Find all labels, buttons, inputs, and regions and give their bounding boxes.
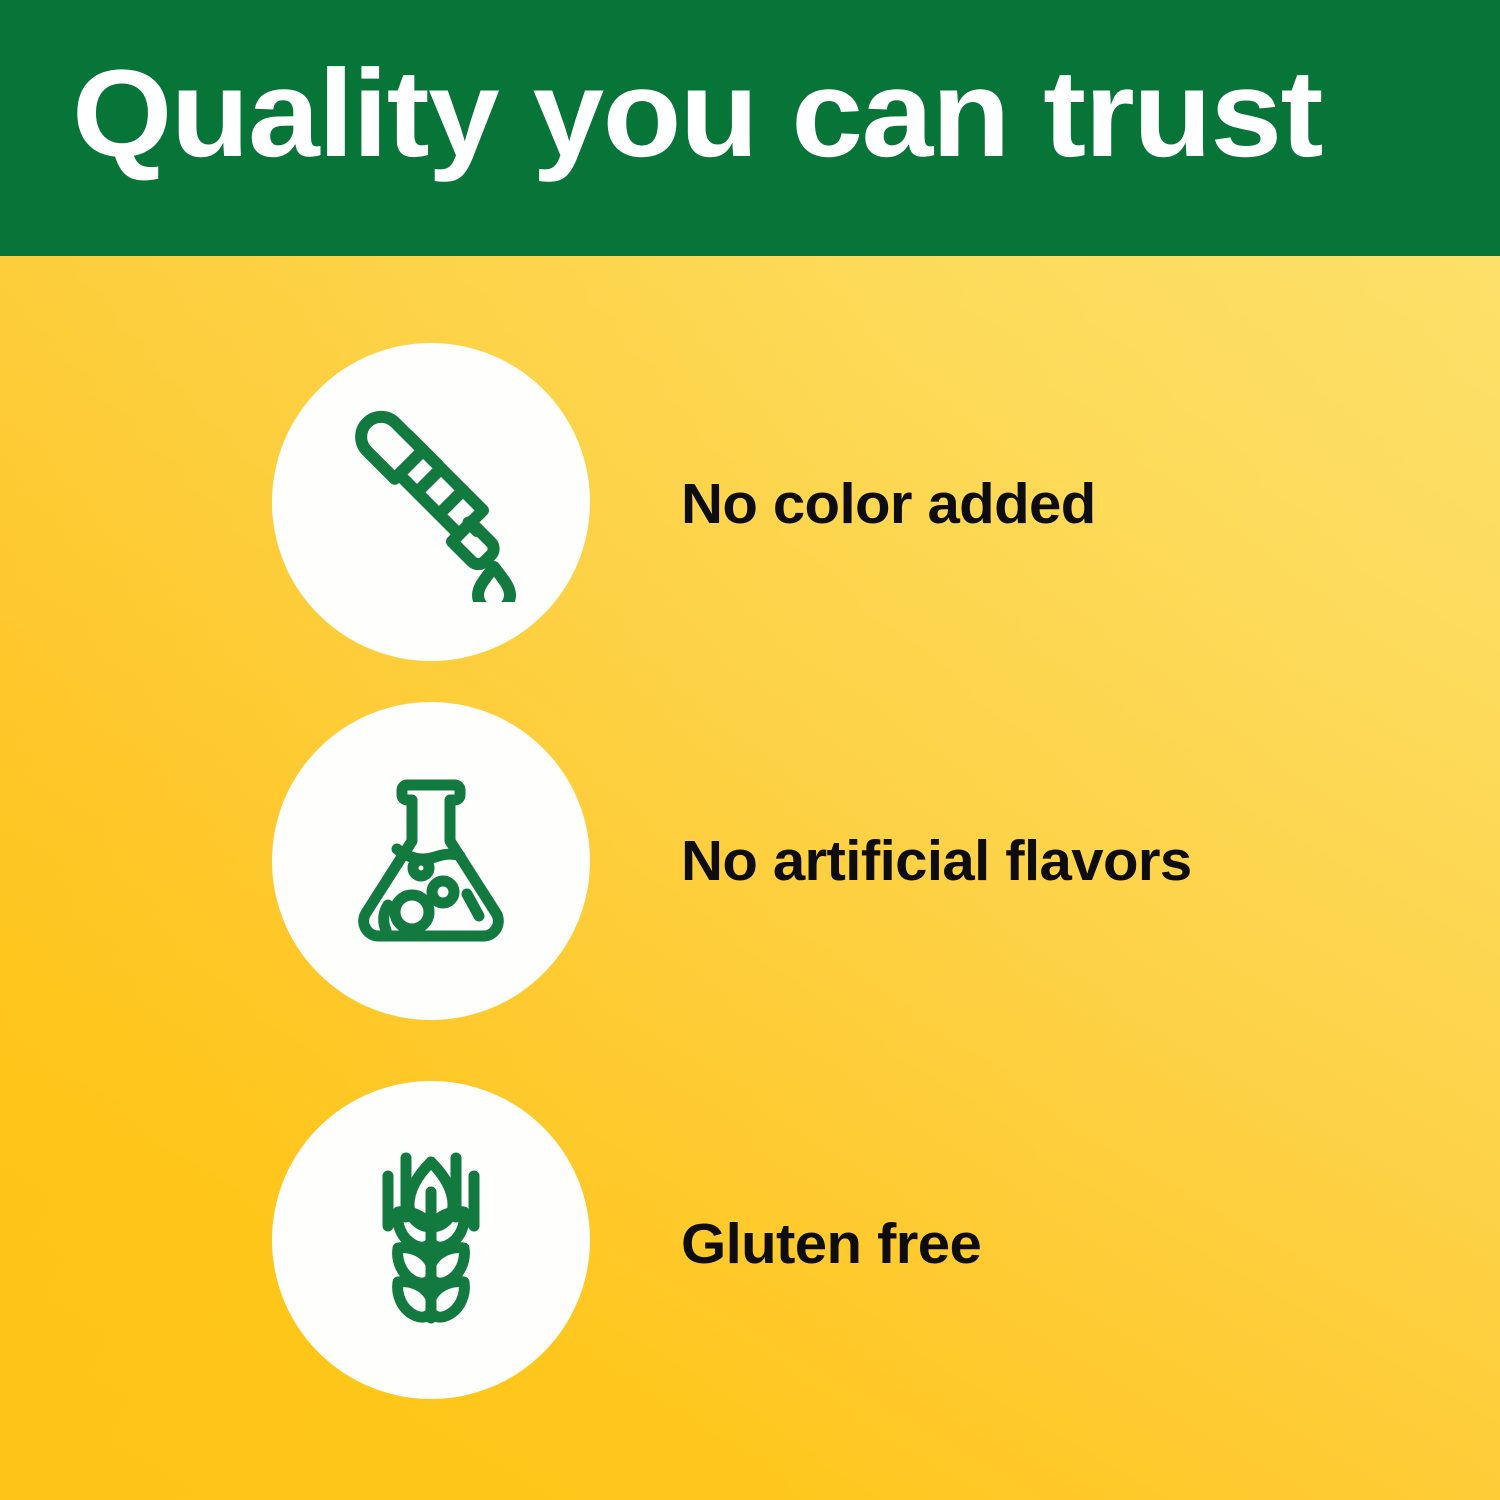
icon-disc — [272, 702, 590, 1020]
icon-disc — [272, 343, 590, 661]
feature-label: No artificial flavors — [681, 702, 1192, 1020]
header-band: Quality you can trust — [0, 0, 1500, 258]
quality-badges-panel: Quality you can trust — [0, 0, 1500, 1500]
flask-icon — [331, 761, 531, 961]
icon-disc — [272, 1081, 590, 1399]
wheat-icon — [331, 1140, 531, 1340]
feature-label: No color added — [681, 345, 1096, 663]
feature-row: No color added — [0, 343, 1500, 663]
dropper-icon — [331, 402, 531, 602]
feature-row: No artificial flavors — [0, 702, 1500, 1022]
feature-label: Gluten free — [681, 1085, 981, 1403]
page-title: Quality you can trust — [72, 52, 1500, 176]
feature-row: Gluten free — [0, 1081, 1500, 1401]
